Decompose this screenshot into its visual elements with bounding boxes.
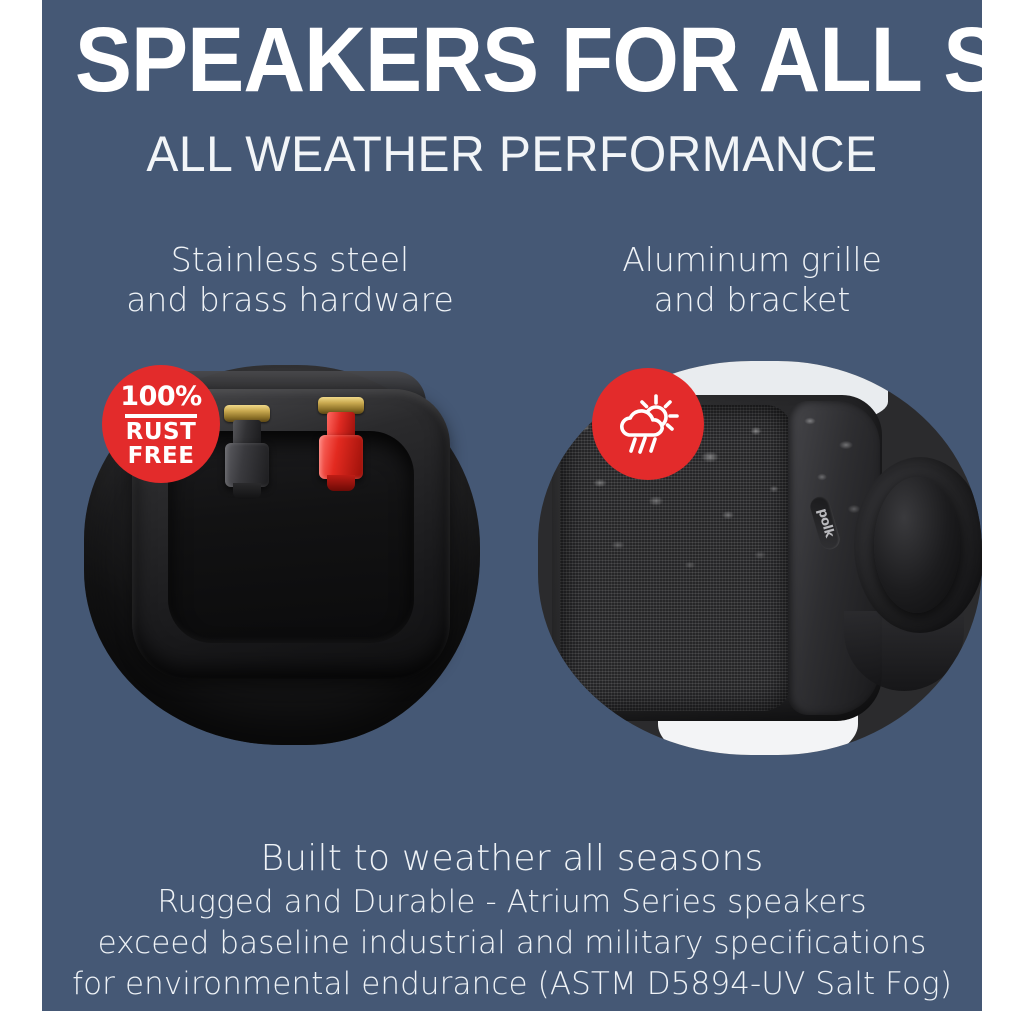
footer-title: Built to weather all seasons <box>42 836 982 882</box>
page-subtitle: ALL WEATHER PERFORMANCE <box>61 126 963 182</box>
feature-caption-right: Aluminum grille and bracket <box>542 240 962 320</box>
post-nut-negative <box>225 443 269 487</box>
post-tip-negative <box>233 483 261 499</box>
footer-line-3: for environmental endurance (ASTM D5894-… <box>42 964 982 1005</box>
feature-caption-left-line1: Stainless steel <box>60 240 520 280</box>
post-tip-positive <box>327 475 355 491</box>
page-title: SPEAKERS FOR ALL SEASONS <box>75 14 949 106</box>
product-infographic: SPEAKERS FOR ALL SEASONS ALL WEATHER PER… <box>0 0 1024 1024</box>
rust-free-word-2: FREE <box>102 444 220 468</box>
feature-caption-left-line2: and brass hardware <box>60 280 520 320</box>
rust-free-badge: 100% RUST FREE <box>102 365 220 483</box>
rust-free-percent: 100% <box>102 383 220 411</box>
all-weather-badge <box>592 368 704 480</box>
feature-caption-right-line1: Aluminum grille <box>542 240 962 280</box>
feature-caption-left: Stainless steel and brass hardware <box>60 240 520 320</box>
rust-free-divider <box>125 414 197 418</box>
bracket-pivot-knob <box>874 477 960 613</box>
post-nut-positive <box>319 435 363 479</box>
feature-caption-right-line2: and bracket <box>542 280 962 320</box>
sun-cloud-rain-icon <box>615 393 681 455</box>
footer-copy: Built to weather all seasons Rugged and … <box>42 836 982 1005</box>
rust-free-word-1: RUST <box>102 420 220 444</box>
footer-line-1: Rugged and Durable - Atrium Series speak… <box>42 882 982 923</box>
content-panel: SPEAKERS FOR ALL SEASONS ALL WEATHER PER… <box>42 0 982 1011</box>
footer-line-2: exceed baseline industrial and military … <box>42 923 982 964</box>
